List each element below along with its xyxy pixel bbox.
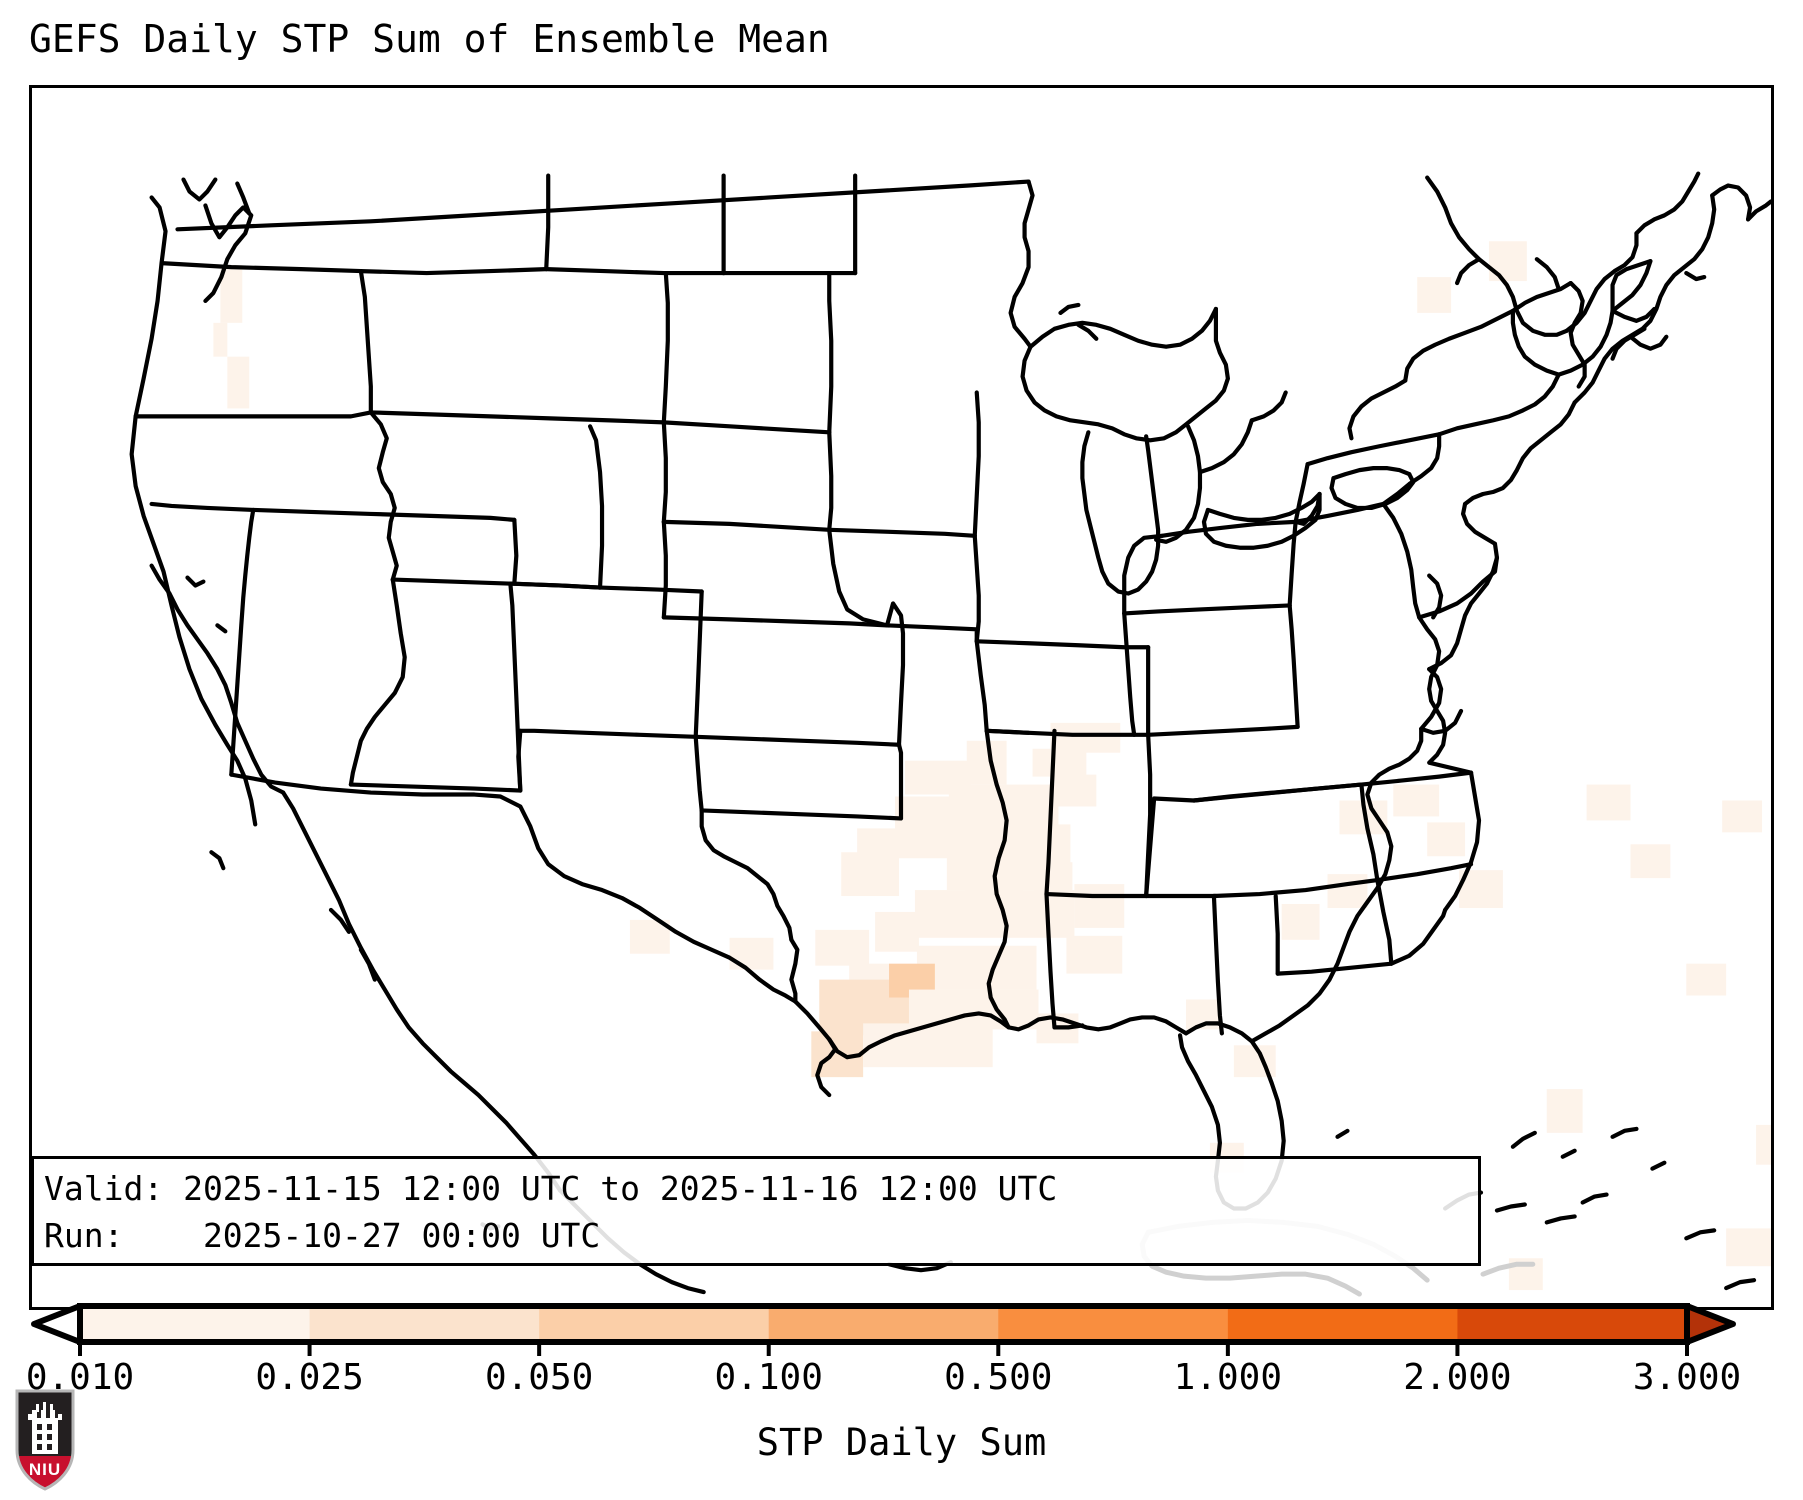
colorbar-axis-label: STP Daily Sum	[0, 1420, 1803, 1466]
colorbar-bands	[80, 1306, 1688, 1342]
colorbar-tick-labels: 0.0100.0250.0500.1000.5001.0002.0003.000	[0, 1356, 1803, 1402]
colorbar-band	[80, 1306, 310, 1342]
stp-grid-cell	[1722, 800, 1762, 832]
stp-grid-cell	[1035, 862, 1073, 892]
stp-grid-cell	[967, 741, 1007, 785]
colorbar-band	[998, 1306, 1228, 1342]
stp-grid-cell	[1427, 822, 1465, 856]
colorbar-band	[1457, 1306, 1687, 1342]
colorbar[interactable]	[0, 1298, 1803, 1358]
stp-grid-cell	[1686, 964, 1726, 996]
colorbar-tick-label: 0.025	[255, 1356, 363, 1400]
stp-grid-cell	[1050, 723, 1120, 753]
stp-grid-cell	[909, 990, 1039, 1030]
colorbar-svg	[0, 1298, 1803, 1358]
stp-grid-cell	[841, 852, 899, 896]
valid-time-line: Valid: 2025-11-15 12:00 UTC to 2025-11-1…	[44, 1165, 1478, 1212]
stp-grid-cell	[1033, 749, 1087, 777]
run-time-line: Run: 2025-10-27 00:00 UTC	[44, 1212, 1478, 1259]
stp-grid-cell	[1328, 874, 1368, 908]
stp-grid-cell	[1756, 1125, 1771, 1165]
stp-grid-cell	[857, 828, 899, 856]
stp-grid-cell	[1726, 1228, 1771, 1266]
colorbar-tick-label: 0.050	[485, 1356, 593, 1400]
colorbar-tick-label: 3.000	[1633, 1356, 1741, 1400]
stp-grid-cell	[1630, 844, 1670, 878]
stp-grid-cell	[1054, 775, 1096, 807]
stp-grid-cell	[1074, 884, 1124, 928]
colorbar-tick-label: 0.500	[944, 1356, 1052, 1400]
map-plot-area[interactable]	[29, 85, 1774, 1310]
page-title: GEFS Daily STP Sum of Ensemble Mean	[29, 16, 830, 62]
logo-text: NIU	[29, 1460, 61, 1479]
colorbar-tick-label: 0.100	[715, 1356, 823, 1400]
map-borders	[132, 174, 1771, 1294]
stp-grid-cell	[1393, 785, 1439, 817]
stp-grid-cell	[863, 1023, 993, 1067]
colorbar-extend-max-arrow	[1687, 1306, 1733, 1342]
stp-grid-cell	[1066, 936, 1122, 974]
stp-grid-cell	[915, 890, 1074, 938]
colorbar-band	[769, 1306, 999, 1342]
colorbar-extend-min-arrow	[34, 1306, 80, 1342]
stp-grid-cell	[1547, 1089, 1583, 1133]
stp-grid-cell	[213, 323, 227, 357]
stp-grid-cell	[730, 938, 774, 970]
forecast-info-box: Valid: 2025-11-15 12:00 UTC to 2025-11-1…	[31, 1156, 1481, 1266]
stp-grid-cell	[1417, 277, 1451, 313]
colorbar-band	[310, 1306, 540, 1342]
stp-grid-cell	[1587, 785, 1631, 821]
stp-grid-cell	[875, 912, 919, 952]
stp-grid-cell	[815, 930, 869, 966]
stp-grid-cell	[227, 357, 249, 409]
colorbar-tick-label: 1.000	[1174, 1356, 1282, 1400]
colorbar-tick-label: 2.000	[1403, 1356, 1511, 1400]
colorbar-band	[1228, 1306, 1458, 1342]
stp-grid-cell	[1282, 904, 1320, 940]
map-canvas	[32, 88, 1771, 1307]
niu-logo: NIU	[14, 1388, 76, 1492]
stp-grid-cell	[1489, 241, 1527, 281]
colorbar-band	[539, 1306, 769, 1342]
